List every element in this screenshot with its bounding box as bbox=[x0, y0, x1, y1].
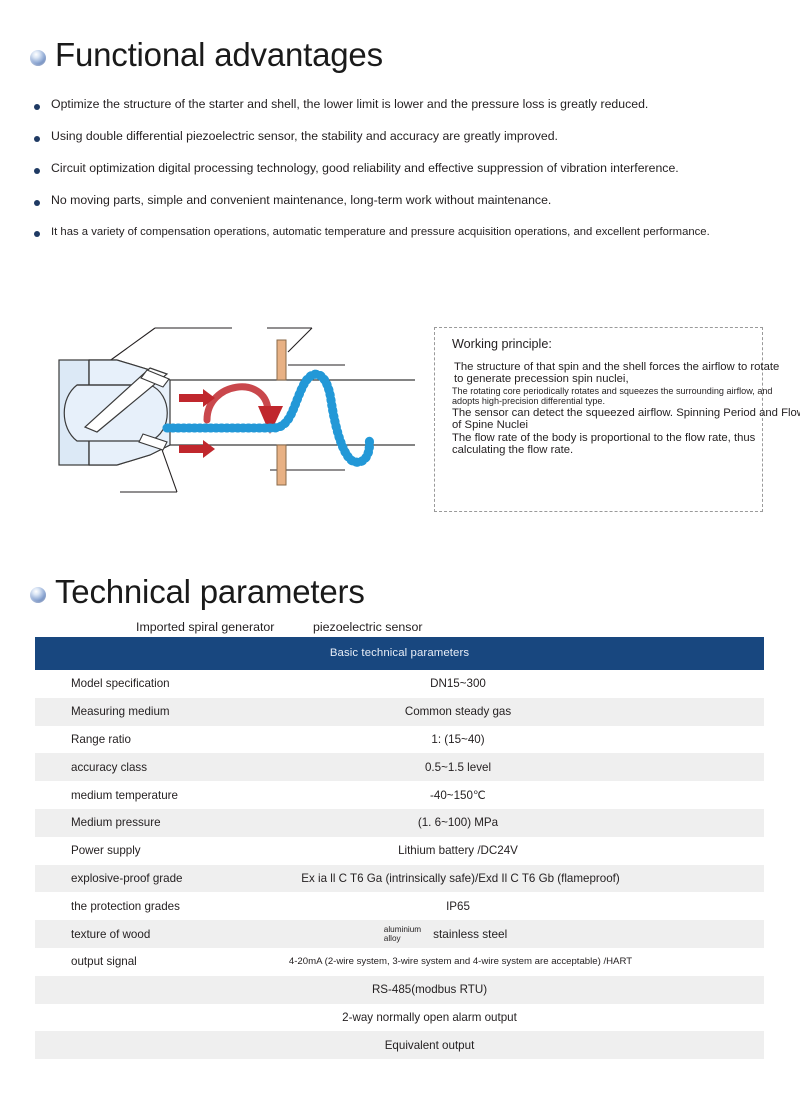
table-row: Equivalent output bbox=[35, 1031, 764, 1059]
aluminium-line2: alloy bbox=[384, 934, 401, 943]
row-label: Power supply bbox=[35, 844, 157, 857]
section-heading-functional: Functional advantages bbox=[30, 38, 383, 73]
table-body: Model specification DN15~300 Measuring m… bbox=[35, 670, 764, 1059]
advantages-list: Optimize the structure of the starter an… bbox=[34, 98, 774, 257]
row-value: Ex ia ll C T6 Ga (intrinsically safe)/Ex… bbox=[157, 872, 764, 885]
row-value: 0.5~1.5 level bbox=[157, 761, 764, 774]
row-value: 4-20mA (2-wire system, 3-wire system and… bbox=[157, 956, 764, 967]
table-row: Range ratio 1: (15~40) bbox=[35, 726, 764, 754]
page-title-functional: Functional advantages bbox=[55, 38, 383, 73]
row-value: IP65 bbox=[157, 900, 764, 913]
table-row: Medium pressure (1. 6~100) MPa bbox=[35, 809, 764, 837]
table-row: Model specification DN15~300 bbox=[35, 670, 764, 698]
table-row: Power supply Lithium battery /DC24V bbox=[35, 837, 764, 865]
table-row: RS-485(modbus RTU) bbox=[35, 976, 764, 1004]
row-label: output signal bbox=[35, 955, 157, 968]
working-principle-line: calculating the flow rate. bbox=[452, 444, 573, 457]
dot-bullet-icon bbox=[34, 200, 40, 206]
section-heading-technical: Technical parameters bbox=[30, 575, 365, 610]
list-item: It has a variety of compensation operati… bbox=[34, 226, 774, 238]
row-label: Model specification bbox=[35, 677, 157, 690]
table-row: Measuring medium Common steady gas bbox=[35, 698, 764, 726]
row-value-aluminium: aluminium alloy bbox=[384, 925, 421, 943]
working-principle-line: adopts high-precision differential type. bbox=[452, 396, 605, 407]
row-value-stainless: stainless steel bbox=[433, 927, 507, 941]
row-value: Equivalent output bbox=[157, 1039, 764, 1052]
table-row: output signal 4-20mA (2-wire system, 3-w… bbox=[35, 948, 764, 976]
page-title-technical: Technical parameters bbox=[55, 575, 365, 610]
dot-bullet-icon bbox=[34, 104, 40, 110]
list-item-label: No moving parts, simple and convenient m… bbox=[51, 194, 551, 208]
technical-parameters-table: Basic technical parameters Model specifi… bbox=[35, 637, 764, 1059]
row-value: (1. 6~100) MPa bbox=[157, 816, 764, 829]
row-value: 1: (15~40) bbox=[157, 733, 764, 746]
row-label: the protection grades bbox=[35, 900, 157, 913]
list-item-label: Using double differential piezoelectric … bbox=[51, 130, 558, 144]
row-value: RS-485(modbus RTU) bbox=[157, 983, 764, 996]
table-row: accuracy class 0.5~1.5 level bbox=[35, 753, 764, 781]
list-item-label: It has a variety of compensation operati… bbox=[51, 226, 710, 238]
list-item: Circuit optimization digital processing … bbox=[34, 162, 774, 176]
dot-bullet-icon bbox=[34, 168, 40, 174]
row-label: accuracy class bbox=[35, 761, 157, 774]
table-row: explosive-proof grade Ex ia ll C T6 Ga (… bbox=[35, 865, 764, 893]
list-item-label: Optimize the structure of the starter an… bbox=[51, 98, 648, 112]
aluminium-line1: aluminium bbox=[384, 925, 421, 934]
table-row: medium temperature -40~150℃ bbox=[35, 781, 764, 809]
dot-bullet-icon bbox=[34, 136, 40, 142]
row-label: Medium pressure bbox=[35, 816, 157, 829]
row-value: -40~150℃ bbox=[157, 788, 764, 802]
diagram-label-piezoelectric-sensor: piezoelectric sensor bbox=[313, 620, 423, 634]
row-value: 2-way normally open alarm output bbox=[157, 1011, 764, 1024]
dot-bullet-icon bbox=[34, 231, 40, 237]
row-value-wood: aluminium alloy stainless steel bbox=[157, 925, 764, 943]
row-value: Common steady gas bbox=[157, 705, 764, 718]
row-value: DN15~300 bbox=[157, 677, 764, 690]
table-row: the protection grades IP65 bbox=[35, 892, 764, 920]
diagram-illustration bbox=[55, 310, 415, 510]
working-principle-line: of Spine Nuclei bbox=[452, 419, 528, 432]
table-row: 2-way normally open alarm output bbox=[35, 1004, 764, 1032]
row-label: Measuring medium bbox=[35, 705, 157, 718]
table-header: Basic technical parameters bbox=[35, 637, 764, 670]
row-label: texture of wood bbox=[35, 928, 157, 941]
table-row: texture of wood aluminium alloy stainles… bbox=[35, 920, 764, 948]
working-principle-line: The rotating core periodically rotates a… bbox=[452, 386, 773, 397]
working-principle-line: to generate precession spin nuclei, bbox=[454, 373, 629, 386]
row-label: medium temperature bbox=[35, 789, 157, 802]
sphere-bullet-icon bbox=[30, 587, 46, 603]
list-item: No moving parts, simple and convenient m… bbox=[34, 194, 774, 208]
list-item: Optimize the structure of the starter an… bbox=[34, 98, 774, 112]
list-item-label: Circuit optimization digital processing … bbox=[51, 162, 679, 176]
row-label: explosive-proof grade bbox=[35, 872, 157, 885]
row-value: Lithium battery /DC24V bbox=[157, 844, 764, 857]
row-label: Range ratio bbox=[35, 733, 157, 746]
list-item: Using double differential piezoelectric … bbox=[34, 130, 774, 144]
diagram-label-spiral-generator: Imported spiral generator bbox=[136, 620, 274, 634]
working-principle-title: Working principle: bbox=[452, 337, 552, 351]
sphere-bullet-icon bbox=[30, 50, 46, 66]
